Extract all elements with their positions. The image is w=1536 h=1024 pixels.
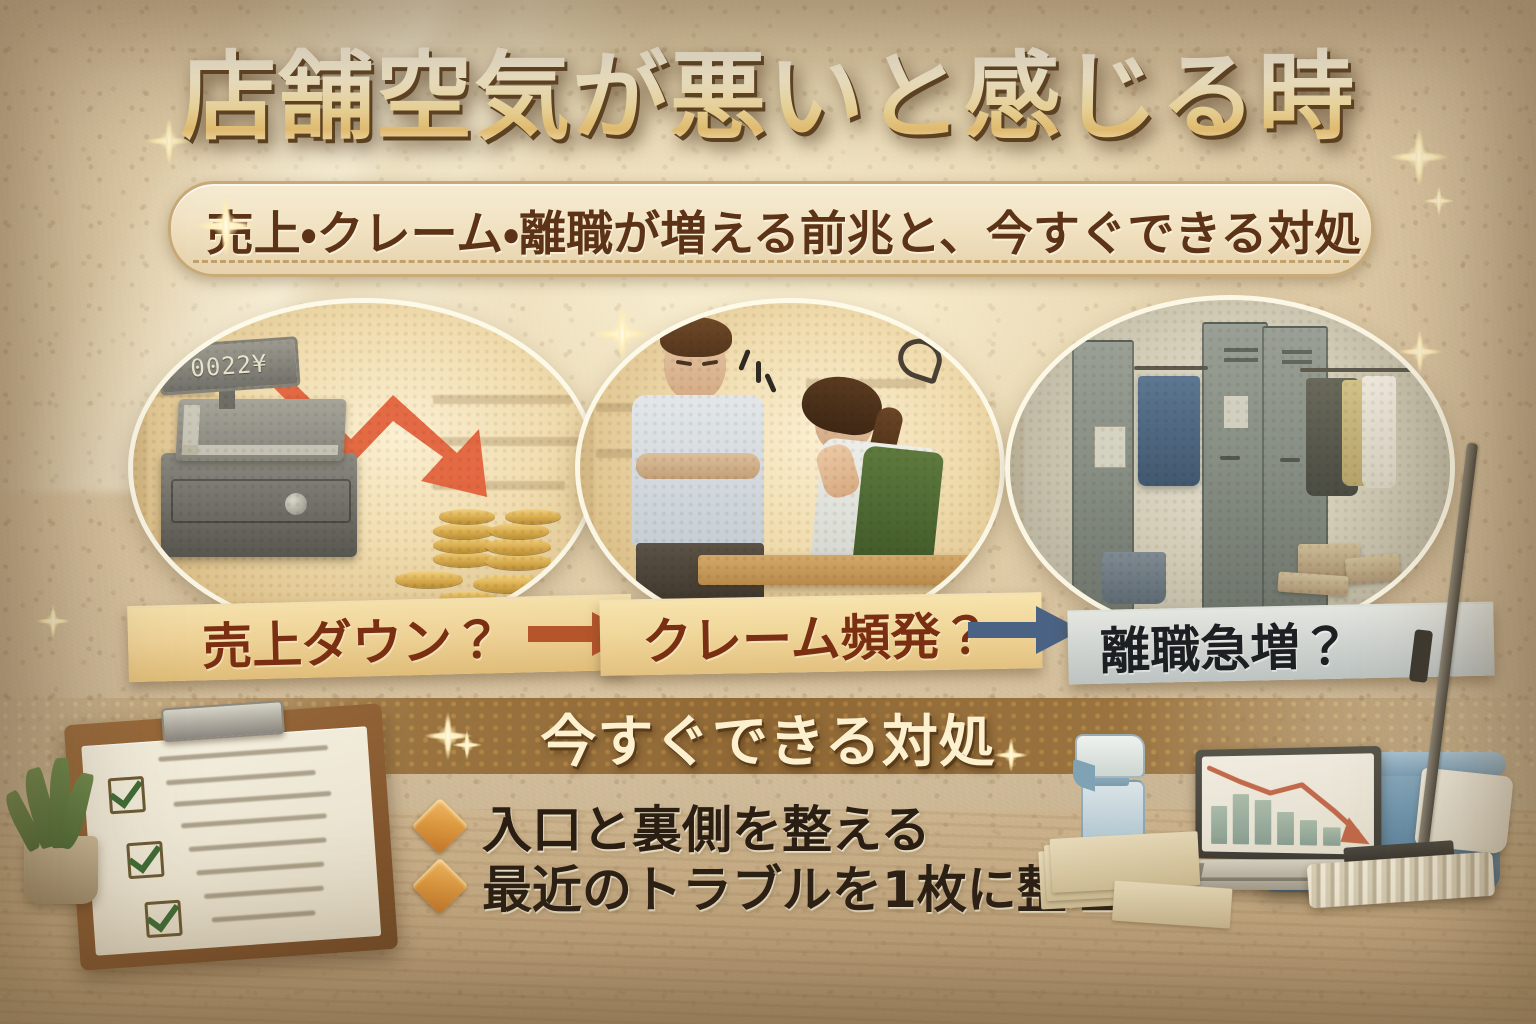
diamond-bullet-icon <box>418 864 462 908</box>
scene-paper-texture <box>133 303 593 633</box>
infographic-canvas: 店舗空気が悪いと感じる時 売上・クレーム・離職が増える前兆と、今すぐできる対処 … <box>0 0 1536 1024</box>
checkmark-icon <box>126 841 164 879</box>
checkmark-icon <box>144 900 182 938</box>
scribble-line <box>166 770 316 785</box>
flow-arrow-icon <box>968 600 1084 660</box>
action-item-2: 最近のトラブルを1枚に整理 <box>418 850 1117 922</box>
checkmark-icon <box>108 776 146 814</box>
action-item-2-label: 最近のトラブルを1枚に整理 <box>482 850 1117 922</box>
scribble-line <box>196 862 324 876</box>
step-label-complaints: クレーム頻発？ <box>641 596 991 674</box>
scribble-line <box>158 745 328 762</box>
flyer-loose <box>1112 881 1233 929</box>
page-title: 店舗空気が悪いと感じる時 <box>0 46 1536 150</box>
mop-grip <box>1409 629 1433 683</box>
scribble-line <box>204 886 324 899</box>
scribble-line <box>173 791 331 807</box>
scribble-line <box>181 813 327 828</box>
subtitle-banner: 売上・クレーム・離職が増える前兆と、今すぐできる対処 <box>168 181 1374 277</box>
checklist-clipboard <box>64 703 398 971</box>
scene-circle-complaints <box>580 303 1000 633</box>
step-label-turnover: 離職急増？ <box>1099 607 1350 684</box>
flyer-stack <box>1038 831 1253 934</box>
clipboard-paper <box>81 726 381 955</box>
scribble-line <box>212 910 316 922</box>
scene-paper-texture <box>580 303 1000 633</box>
subtitle-text: 売上・クレーム・離職が増える前兆と、今すぐできる対処 <box>181 195 1362 264</box>
step-label-sales-down: 売上ダウン？ <box>201 600 503 679</box>
scribble-line <box>189 837 327 852</box>
mop <box>1330 440 1460 940</box>
diamond-bullet-icon <box>418 804 462 848</box>
scene-circle-sales-down: 0022¥ <box>133 303 593 633</box>
